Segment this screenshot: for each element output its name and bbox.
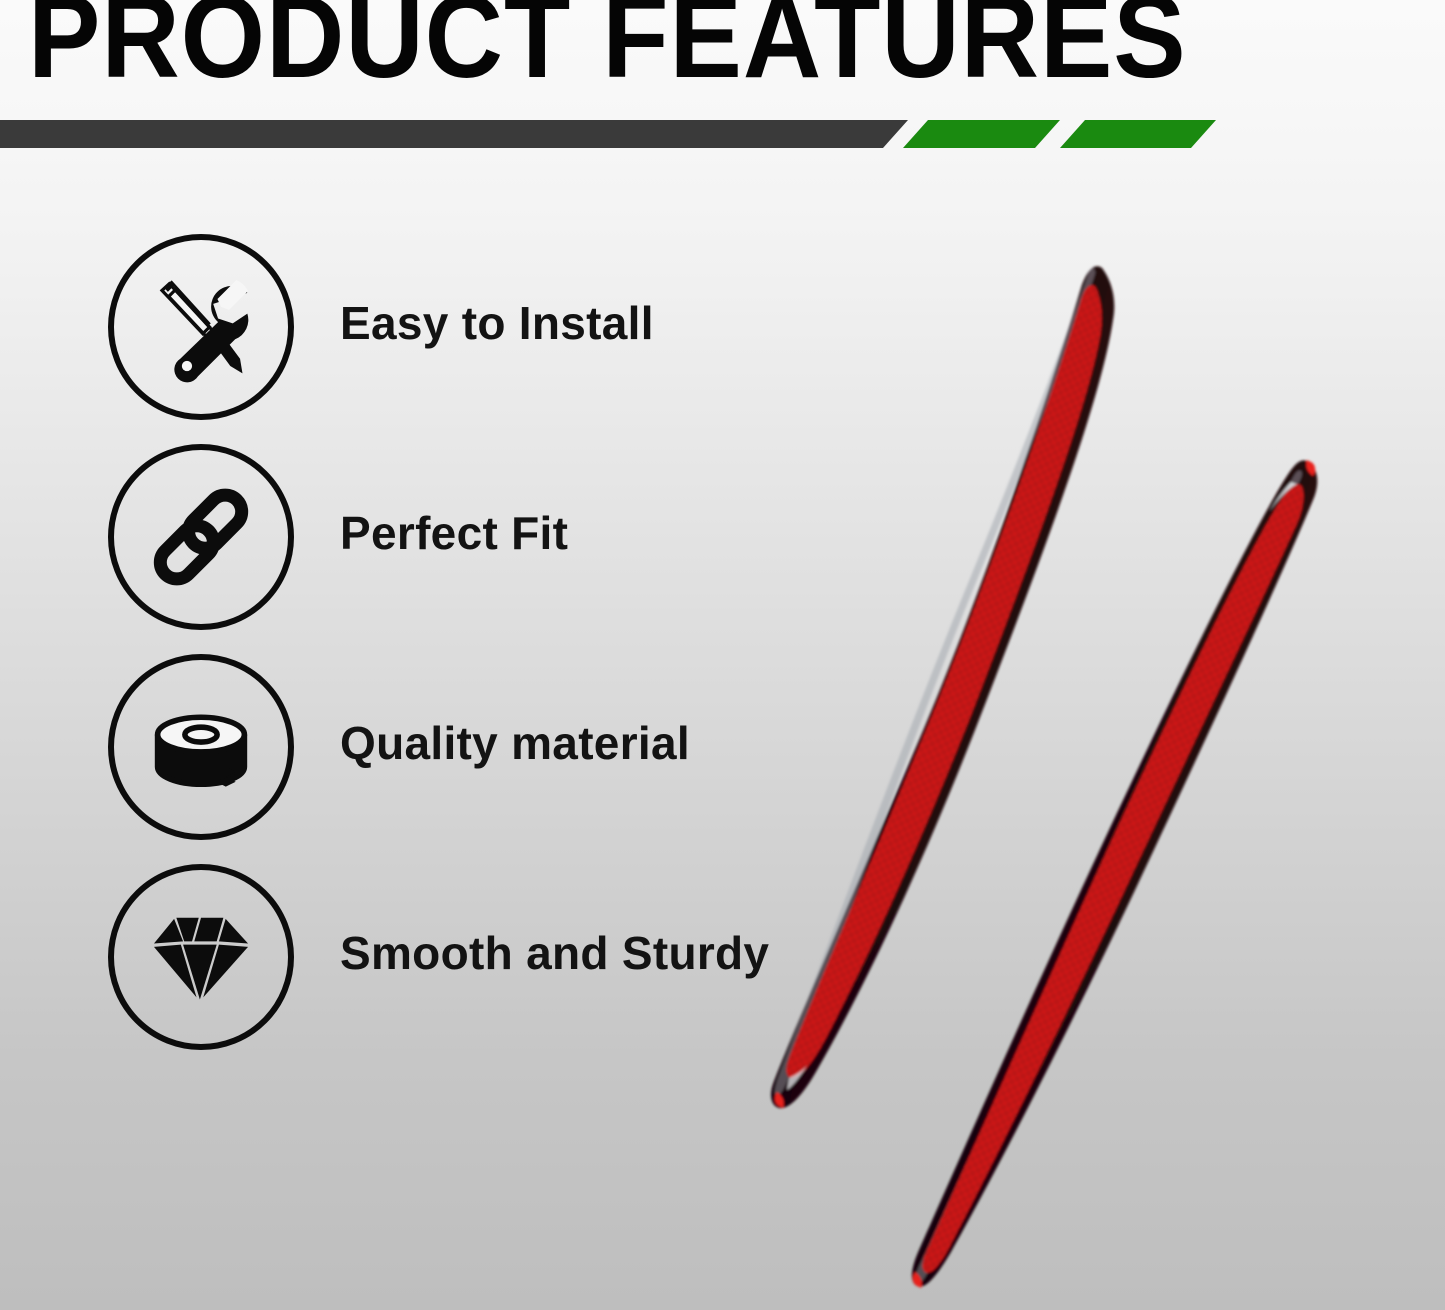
header-dark-bar <box>0 120 908 148</box>
diamond-icon <box>108 864 294 1050</box>
header-rule-shapes <box>0 118 1445 150</box>
feature-item: Quality material <box>0 648 780 858</box>
tape-roll-icon <box>108 654 294 840</box>
feature-item: Easy to Install <box>0 228 780 438</box>
feature-label: Perfect Fit <box>340 504 568 562</box>
header-accent-bar-1 <box>903 120 1060 148</box>
reflector-pair-illustration <box>745 250 1445 1310</box>
page-title: PRODUCT FEATURES <box>28 0 1187 96</box>
tools-icon <box>108 234 294 420</box>
product-image <box>745 250 1445 1310</box>
feature-item: Perfect Fit <box>0 438 780 648</box>
header-accent-bar-2 <box>1060 120 1216 148</box>
feature-label: Smooth and Sturdy <box>340 924 769 982</box>
feature-label: Quality material <box>340 714 690 772</box>
feature-item: Smooth and Sturdy <box>0 858 780 1068</box>
product-features-infographic: PRODUCT FEATURES <box>0 0 1445 1310</box>
feature-list: Easy to Install Perfect Fit <box>0 228 780 1068</box>
feature-label: Easy to Install <box>340 294 654 352</box>
header-divider-rule <box>0 118 1445 150</box>
chain-link-icon <box>108 444 294 630</box>
